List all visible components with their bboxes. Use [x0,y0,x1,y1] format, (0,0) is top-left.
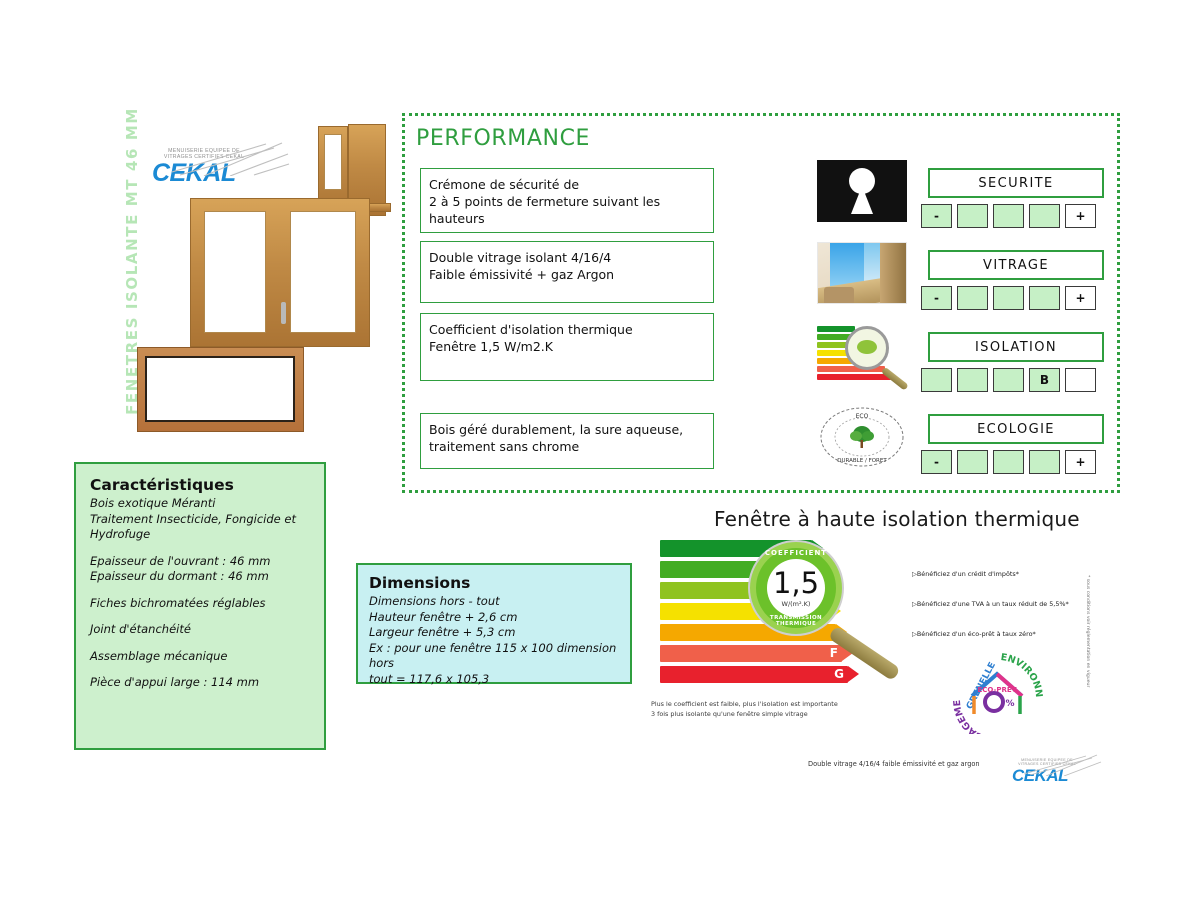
eco-stamp-svg: ECO DURABLE / FORET [817,406,907,468]
carac-line: Traitement Insecticide, Fongicide et [90,512,310,528]
carac-line: Epaisseur du dormant : 46 mm [90,569,310,585]
svg-text:DURABLE / FORET: DURABLE / FORET [837,458,887,464]
rating-cell[interactable] [1029,450,1060,474]
rating-cells-isolation: B [921,368,1096,392]
dimension-line: Largeur fenêtre + 5,3 cm [369,625,619,641]
dimensions-box: Dimensions Dimensions hors - tout Hauteu… [356,563,632,684]
dimension-line: Dimensions hors - tout [369,594,619,610]
rating-cell[interactable]: + [1065,450,1096,474]
rating-cell[interactable] [1029,286,1060,310]
feature-box-cremone: Crémone de sécurité de 2 à 5 points de f… [420,168,714,233]
coefficient-value: 1,5 [773,569,819,598]
carac-line: Fiches bichromatées réglables [90,596,310,612]
window-transom-image [137,347,304,432]
feature-line: Bois géré durablement, la sure aqueuse, [429,421,705,438]
rating-cell[interactable] [993,204,1024,228]
coefficient-unit: W/(m².K) [782,600,811,608]
svg-text:ECO: ECO [856,413,869,420]
rating-cells-vitrage: - + [921,286,1096,310]
rating-cells-ecologie: - + [921,450,1096,474]
energy-label-magnifier-icon [817,324,907,386]
energy-caption-line1: Plus le coefficient est faible, plus l'i… [651,700,891,710]
rating-label-vitrage: VITRAGE [928,250,1104,280]
svg-text:%: % [1005,699,1014,709]
feature-line: Fenêtre 1,5 W/m2.K [429,338,705,355]
cekal-logo-top: MENUISERIE EQUIPEE DE VITRAGES CERTIFIES… [152,148,256,185]
rating-cell-grade[interactable]: B [1029,368,1060,392]
benefit-item: ▷Bénéficiez d'une TVA à un taux réduit d… [912,600,1092,608]
rating-cell[interactable] [957,450,988,474]
rating-label-securite: SECURITE [928,168,1104,198]
carac-line: Assemblage mécanique [90,649,310,665]
energy-caption: Plus le coefficient est faible, plus l'i… [651,700,891,719]
keyhole-icon [817,160,907,222]
carac-line: Epaisseur de l'ouvrant : 46 mm [90,554,310,570]
rating-cell[interactable]: + [1065,286,1096,310]
rating-cell[interactable] [957,368,988,392]
energy-grade-g: G [834,666,844,683]
rating-cell[interactable] [993,368,1024,392]
rating-label-ecologie: ECOLOGIE [928,414,1104,444]
feature-box-vitrage: Double vitrage isolant 4/16/4 Faible émi… [420,241,714,303]
energy-label-chart: A F G COEFFICIENT TRANSMISSION THERMIQUE… [660,540,875,695]
energy-caption-line2: 3 fois plus isolante qu'une fenêtre simp… [651,710,891,720]
carac-line: Pièce d'appui large : 114 mm [90,675,310,691]
datasheet-page: FENETRES ISOLANTE MT 46 MM MENUISERIE EQ… [0,0,1202,901]
grenelle-logo-svg: ENVIRONNEMENT ENGAGEMENTS GRENELLE ECO-P… [950,648,1044,734]
rating-cell[interactable]: - [921,204,952,228]
window-double-image [190,198,370,347]
magnifier-ring-top: COEFFICIENT [756,549,836,557]
caracteristiques-box: Caractéristiques Bois exotique Méranti T… [74,462,326,750]
eco-tree-stamp-icon: ECO DURABLE / FORET [817,406,907,468]
rating-cell[interactable] [957,286,988,310]
feature-line: hauteurs [429,210,705,227]
benefits-footnote: * sous conditions voir réglementation en… [1085,575,1090,665]
feature-line: Coefficient d'isolation thermique [429,321,705,338]
feature-line: Double vitrage isolant 4/16/4 [429,249,705,266]
dimension-line: Hauteur fenêtre + 2,6 cm [369,610,619,626]
glazing-photo-icon [817,242,907,304]
performance-title: PERFORMANCE [416,126,590,151]
feature-line: traitement sans chrome [429,438,705,455]
rating-cell[interactable] [1065,368,1096,392]
feature-line: Crémone de sécurité de [429,176,705,193]
benefit-item: ▷Bénéficiez d'un crédit d'impôts* [912,570,1092,578]
grenelle-environnement-logo: ENVIRONNEMENT ENGAGEMENTS GRENELLE ECO-P… [950,648,1044,734]
dimension-line: tout = 117,6 x 105,3 [369,672,619,688]
feature-box-coefficient: Coefficient d'isolation thermique Fenêtr… [420,313,714,381]
rating-label-isolation: ISOLATION [928,332,1104,362]
benefits-list: ▷Bénéficiez d'un crédit d'impôts* ▷Bénéf… [912,570,1092,660]
carac-line: Joint d'étanchéité [90,622,310,638]
energy-grade-f: F [830,645,838,662]
window-handle-icon [281,302,286,324]
feature-box-bois: Bois géré durablement, la sure aqueuse, … [420,413,714,469]
feature-line: 2 à 5 points de fermeture suivant les [429,193,705,210]
rating-cell[interactable]: - [921,286,952,310]
rating-cell[interactable] [1029,204,1060,228]
rating-cell[interactable] [993,286,1024,310]
cekal-rays-icon [170,142,290,176]
caracteristiques-heading: Caractéristiques [90,476,310,494]
thermal-title: Fenêtre à haute isolation thermique [714,507,1080,531]
rating-cell[interactable] [921,368,952,392]
cekal-rays-icon [1022,754,1102,776]
bottom-note: Double vitrage 4/16/4 faible émissivité … [808,760,980,768]
benefit-item: ▷Bénéficiez d'un éco-prêt à taux zéro* [912,630,1092,638]
dimension-line: Ex : pour une fenêtre 115 x 100 dimensio… [369,641,619,672]
rating-cells-securite: - + [921,204,1096,228]
rating-cell[interactable] [957,204,988,228]
rating-cell[interactable]: + [1065,204,1096,228]
coefficient-magnifier: COEFFICIENT TRANSMISSION THERMIQUE 1,5 W… [750,542,842,634]
feature-line: Faible émissivité + gaz Argon [429,266,705,283]
rating-cell[interactable]: - [921,450,952,474]
cekal-logo-bottom: MENUISERIE EQUIPEE DE VITRAGES CERTIFIES… [1012,758,1082,784]
carac-line: Hydrofuge [90,527,310,543]
carac-line: Bois exotique Méranti [90,496,310,512]
dimensions-heading: Dimensions [369,574,619,592]
rating-cell[interactable] [993,450,1024,474]
